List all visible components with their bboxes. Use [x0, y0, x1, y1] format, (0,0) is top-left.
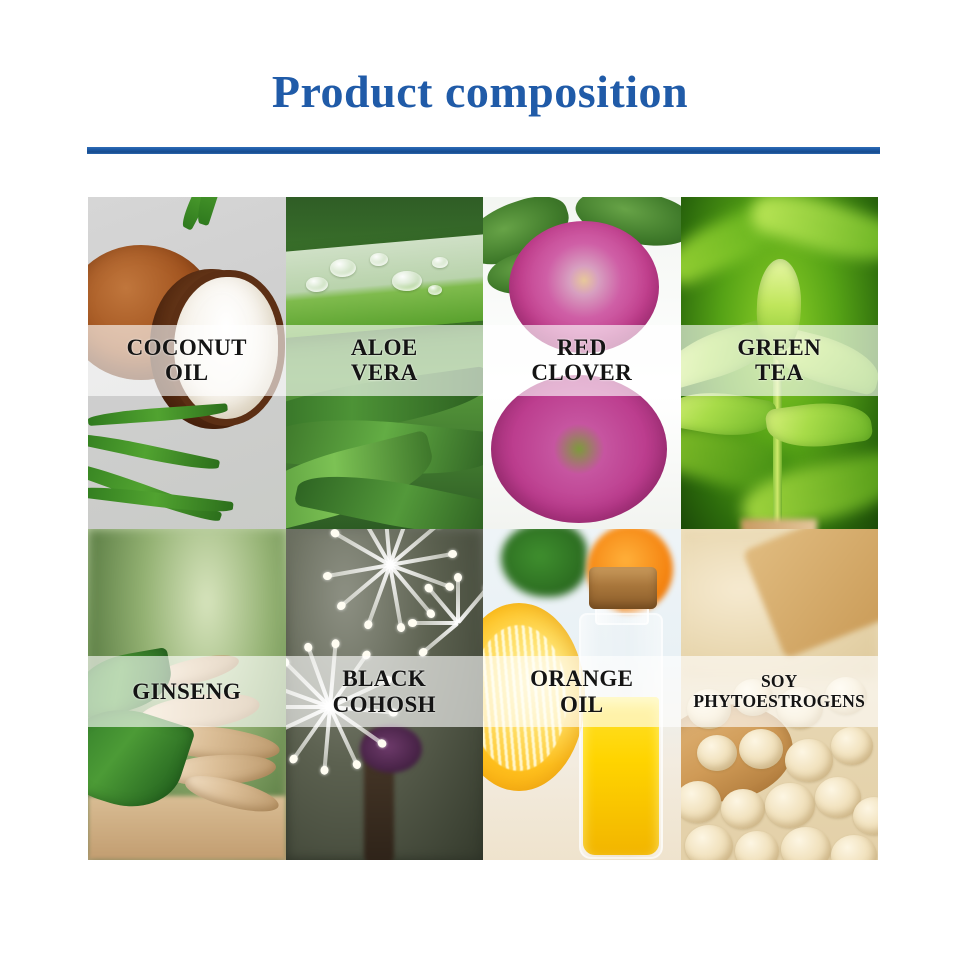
tile-label-band: COCONUT OIL [88, 325, 286, 396]
tile-label-red-clover: RED CLOVER [531, 335, 632, 387]
water-droplet [306, 277, 328, 292]
product-composition-page: Product composition COCONUT OIL [0, 0, 960, 960]
soybean [831, 835, 877, 861]
soybean [697, 735, 737, 771]
tile-green-tea[interactable]: GREEN TEA [681, 197, 879, 529]
tile-aloe-vera[interactable]: ALOE VERA [286, 197, 484, 529]
tile-label-orange-oil: ORANGE OIL [530, 666, 633, 718]
palm-leaf-icon [192, 197, 242, 226]
tile-soy-phytoestrogens[interactable]: SOY PHYTOESTROGENS [681, 529, 879, 861]
soybean [685, 825, 733, 861]
tile-label-band: ORANGE OIL [483, 656, 681, 727]
header: Product composition [0, 66, 960, 119]
tea-ground [741, 519, 817, 529]
tile-label-band: ALOE VERA [286, 325, 484, 396]
soybean [765, 783, 815, 828]
page-title: Product composition [0, 66, 960, 119]
soybean [785, 739, 833, 782]
palm-leaf-icon [88, 429, 220, 474]
tile-black-cohosh[interactable]: BLACK COHOSH [286, 529, 484, 861]
palm-leaf-icon [88, 483, 234, 516]
water-droplet [428, 285, 442, 295]
title-divider [87, 147, 880, 154]
tile-label-coconut-oil: COCONUT OIL [127, 335, 247, 387]
tile-label-black-cohosh: BLACK COHOSH [333, 666, 436, 718]
tile-label-band: RED CLOVER [483, 325, 681, 396]
soybean [781, 827, 831, 861]
tile-orange-oil[interactable]: ORANGE OIL [483, 529, 681, 861]
soybean [735, 831, 779, 861]
tile-label-aloe-vera: ALOE VERA [351, 335, 418, 387]
clover-blossom [491, 375, 667, 523]
tile-label-band: GINSENG [88, 656, 286, 727]
tile-ginseng[interactable]: GINSENG [88, 529, 286, 861]
tile-label-soy-phytoestrogens: SOY PHYTOESTROGENS [693, 672, 865, 711]
tile-label-band: BLACK COHOSH [286, 656, 484, 727]
water-droplet [432, 257, 448, 268]
soybean [831, 727, 873, 765]
cork-stopper [589, 567, 657, 609]
ingredient-grid: COCONUT OIL ALOE VERA [88, 197, 878, 860]
water-droplet [330, 259, 356, 277]
tile-label-band: SOY PHYTOESTROGENS [681, 656, 879, 727]
soybean [721, 789, 765, 829]
tile-coconut-oil[interactable]: COCONUT OIL [88, 197, 286, 529]
tile-label-band: GREEN TEA [681, 325, 879, 396]
tile-label-ginseng: GINSENG [132, 679, 241, 705]
soybean [681, 781, 721, 823]
green-garnish [501, 529, 587, 597]
water-droplet [370, 253, 388, 266]
water-droplet [392, 271, 422, 291]
tile-red-clover[interactable]: RED CLOVER [483, 197, 681, 529]
tile-label-green-tea: GREEN TEA [737, 335, 821, 387]
soybean [739, 729, 783, 769]
